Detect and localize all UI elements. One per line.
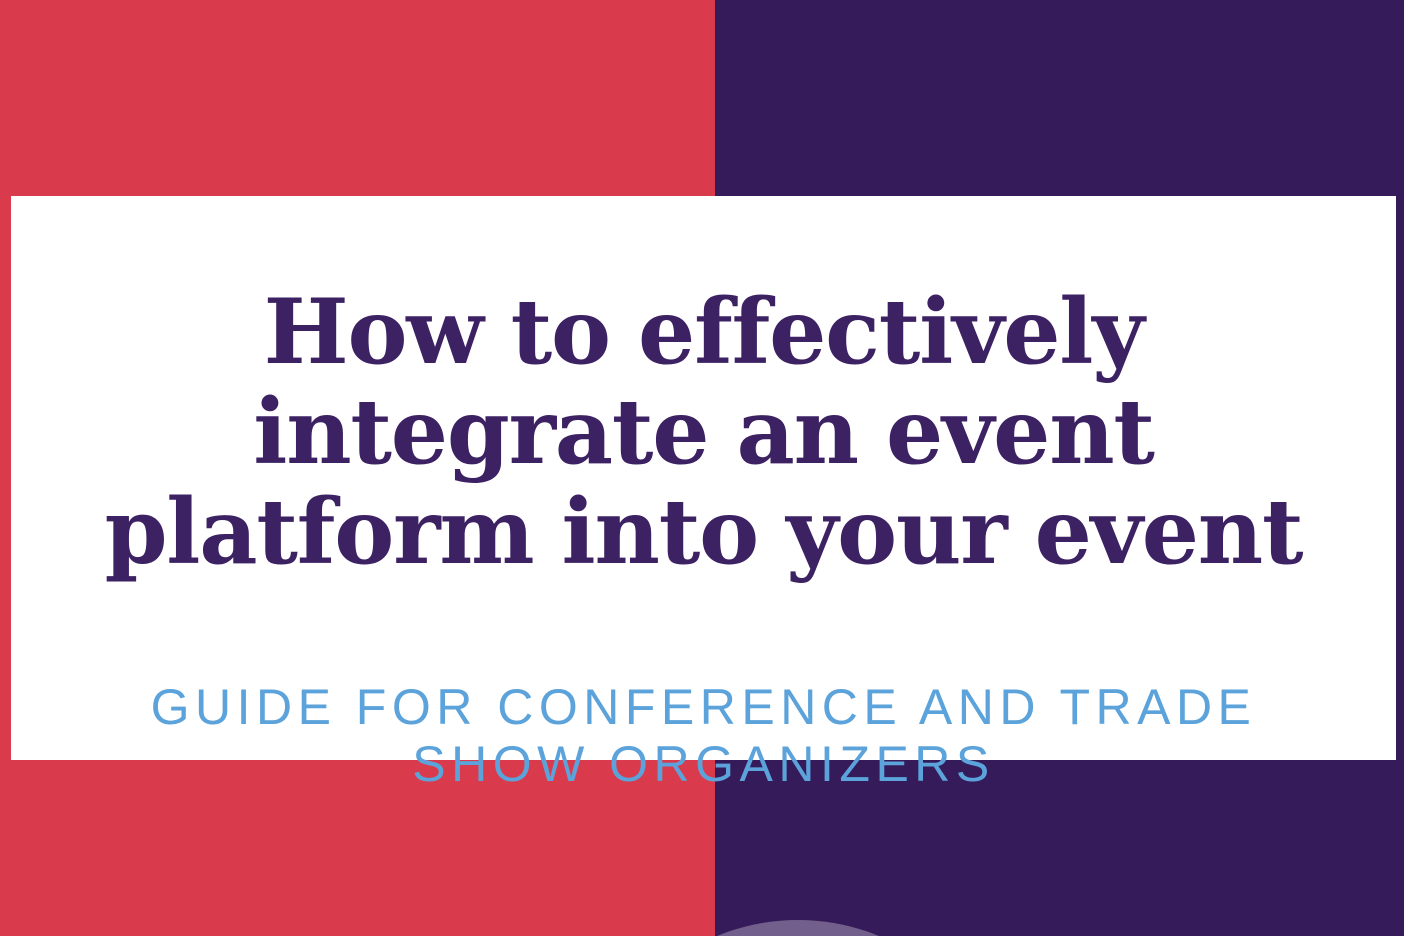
page-subtitle: Guide for conference and trade show orga…	[11, 679, 1396, 793]
title-card: How to effectively integrate an event pl…	[11, 196, 1396, 760]
title-slide: How to effectively integrate an event pl…	[0, 0, 1404, 936]
page-title: How to effectively integrate an event pl…	[11, 282, 1396, 582]
